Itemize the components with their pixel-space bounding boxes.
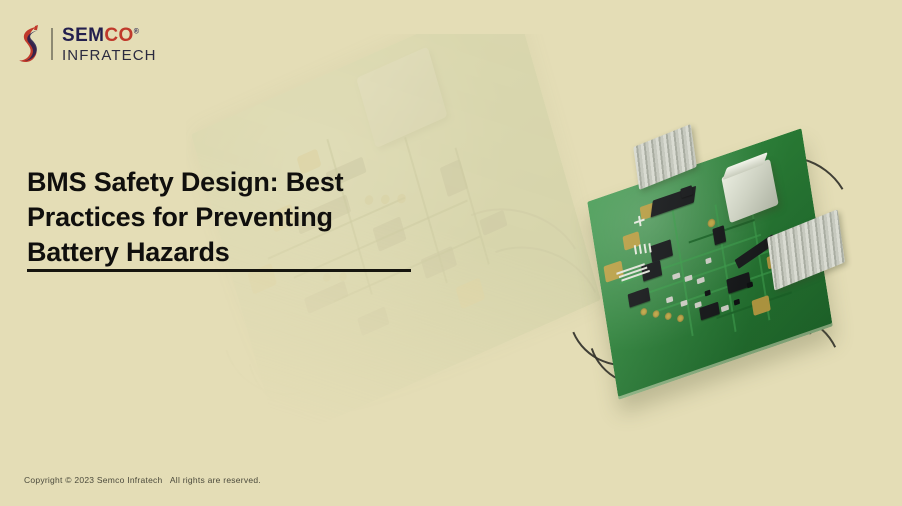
banner-root: SEMCO® INFRATECH BMS Safety Design: Best… bbox=[0, 0, 902, 506]
logo-trademark: ® bbox=[134, 28, 140, 35]
semco-s-swoosh-icon bbox=[16, 24, 42, 64]
pcb-photo bbox=[572, 128, 902, 418]
page-title: BMS Safety Design: Best Practices for Pr… bbox=[27, 165, 427, 270]
logo-name-part1: SEM bbox=[62, 25, 104, 46]
title-underline-rule bbox=[27, 269, 411, 272]
logo-divider bbox=[51, 28, 53, 60]
brand-logo[interactable]: SEMCO® INFRATECH bbox=[16, 24, 157, 64]
logo-tagline: INFRATECH bbox=[62, 48, 157, 63]
logo-name-part2: CO bbox=[104, 25, 133, 46]
watermark-transformer bbox=[356, 46, 447, 148]
copyright-notice: Copyright © 2023 Semco Infratech All rig… bbox=[24, 475, 261, 485]
logo-wordmark: SEMCO® INFRATECH bbox=[62, 26, 157, 63]
